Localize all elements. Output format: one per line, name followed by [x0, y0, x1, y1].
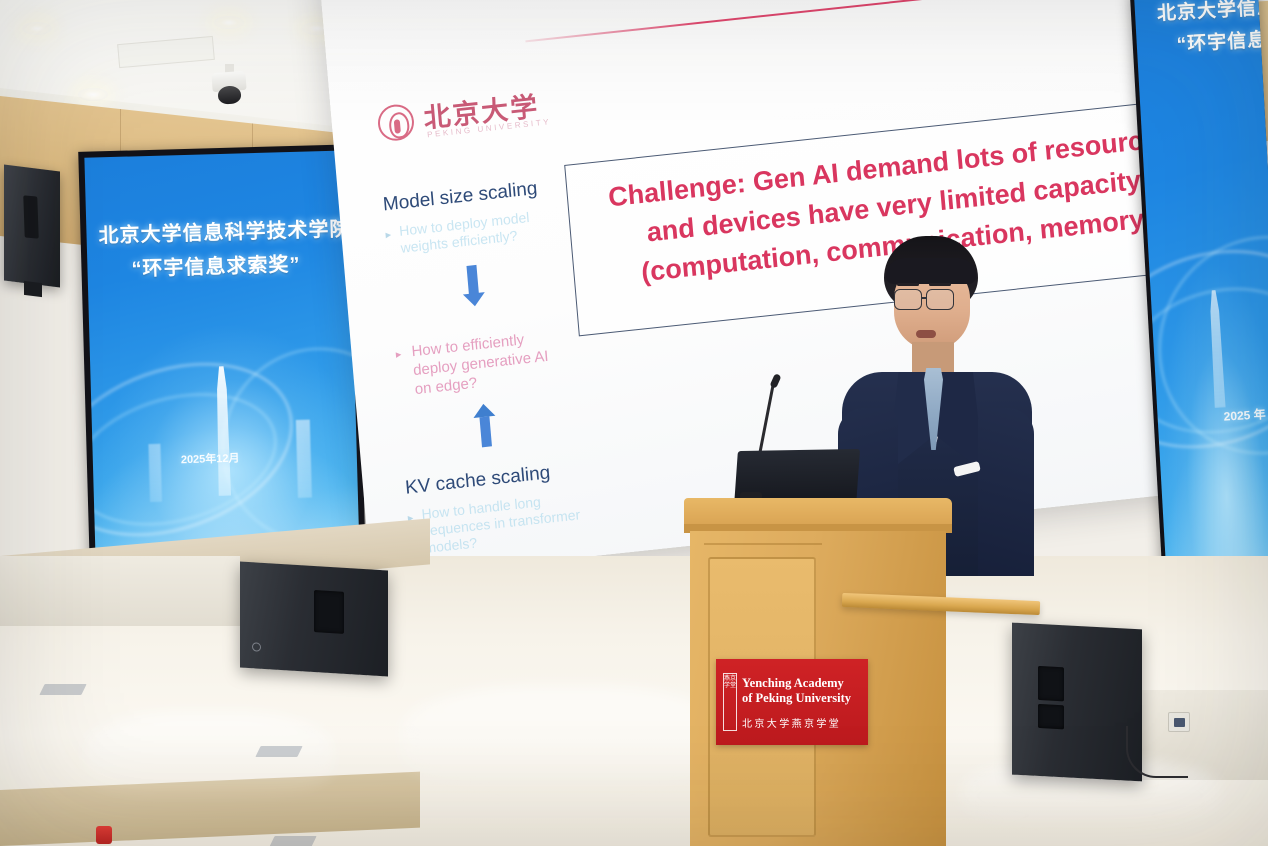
speaker-logo-icon — [252, 642, 261, 652]
led-left-date: 2025年12月 — [181, 450, 240, 468]
wall-base-stone-left — [0, 556, 240, 626]
presenter-eyebrow-right — [929, 283, 951, 286]
floor-reflection — [400, 686, 730, 796]
floor-speaker-right — [1012, 623, 1142, 782]
lecture-hall-photo: 北京大学信息科学技术学院 “环宇信息求索奖” 2025年12月 Gen AI a… — [0, 0, 1268, 846]
podium-body: 燕京学堂 Yenching Academy of Peking Universi… — [690, 531, 946, 846]
slide-bullet-kv-cache: How to handle long sequences in transfor… — [421, 488, 594, 557]
podium: 燕京学堂 Yenching Academy of Peking Universi… — [684, 498, 952, 846]
presenter-hair-front — [886, 258, 976, 284]
downlight-icon — [214, 16, 244, 29]
glasses-bridge — [922, 297, 927, 299]
wall-speaker-bracket — [24, 281, 42, 297]
floor-vent — [39, 684, 86, 695]
led-right-date: 2025 年 — [1223, 405, 1266, 424]
slide-bullet-model-size: How to deploy model weights efficiently? — [399, 205, 571, 257]
speaker-port — [1038, 666, 1064, 701]
wall-speaker-grille — [23, 195, 38, 238]
speaker-port — [1038, 704, 1064, 729]
floor-vent — [269, 836, 316, 846]
glasses-icon — [926, 289, 954, 310]
speaker-port — [314, 590, 344, 634]
podium-sign-english: Yenching Academy of Peking University — [742, 676, 866, 706]
led-panel-right: 北京大学信息科学技术学院 “环宇信息 2025 年 — [1134, 0, 1268, 643]
pku-seal-icon — [377, 103, 416, 143]
downlight-icon — [78, 88, 108, 101]
floor-speaker-left — [240, 561, 388, 676]
led-right-title-line2: “环宇信息 — [1176, 25, 1268, 57]
slide-title: Gen AI at the Edge — [671, 0, 991, 4]
led-right-title-line1: 北京大学信息科学技术学院 — [1156, 0, 1268, 26]
podium-sign: 燕京学堂 Yenching Academy of Peking Universi… — [716, 659, 868, 745]
pku-logo: 北京大学 PEKING UNIVERSITY — [376, 85, 548, 157]
podium-sign-english-line2: of Peking University — [742, 691, 866, 706]
presenter-eyebrow-left — [897, 283, 919, 286]
bullet-icon: ▸ — [395, 347, 402, 361]
arrow-down-icon — [466, 265, 479, 296]
power-cable — [1126, 726, 1188, 778]
led-left-title-line1: 北京大学信息科学技术学院 — [98, 212, 351, 248]
presenter-arm-right — [978, 408, 1034, 576]
slide-title-rule — [525, 0, 1221, 42]
slide-bullet-deploy-edge: How to efficiently deploy generative AI … — [411, 326, 565, 399]
floor-object-red — [96, 826, 112, 844]
presenter-neck — [912, 342, 954, 372]
podium-sign-seal: 燕京学堂 — [723, 673, 737, 731]
podium-sign-chinese: 北京大学燕京学堂 — [742, 715, 866, 730]
arrow-up-icon — [479, 416, 492, 447]
bullet-icon: ▸ — [385, 228, 392, 242]
downlight-icon — [22, 22, 52, 35]
floor-vent — [255, 746, 302, 757]
podium-rail — [704, 543, 822, 553]
glasses-icon — [894, 289, 922, 310]
podium-sign-english-line1: Yenching Academy — [742, 676, 866, 691]
led-left-title-line2: “环宇信息求索奖” — [131, 248, 301, 282]
led-panel-left: 北京大学信息科学技术学院 “环宇信息求索奖” 2025年12月 — [84, 150, 359, 563]
presenter-mouth — [916, 330, 936, 338]
